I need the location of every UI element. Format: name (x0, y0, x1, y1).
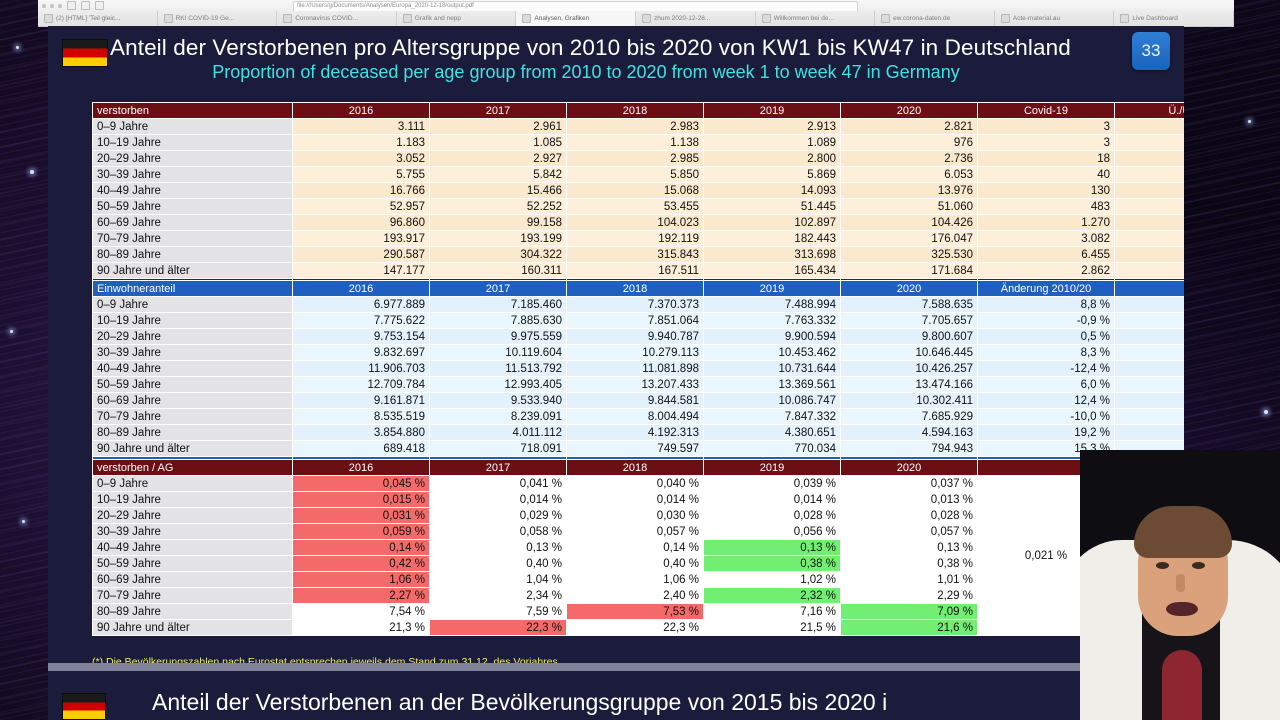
tab-label: ew.corona-daten.de (893, 15, 950, 22)
data-cell: 12.709.784 (293, 377, 430, 393)
browser-tab[interactable]: ew.corona-daten.de (875, 11, 995, 26)
favicon-icon (1001, 14, 1010, 23)
data-cell: 0,38 % (841, 556, 978, 572)
row-label: 60–69 Jahre (93, 215, 293, 231)
row-label: 70–79 Jahre (93, 231, 293, 247)
browser-tab[interactable]: Acte-material.au (995, 11, 1115, 26)
data-cell: 9.844.581 (567, 393, 704, 409)
table-row: 10–19 Jahre1.1831.0851.1381.0899763-132 (93, 135, 1185, 151)
tab-label: (2) [HTML] 'Teil gleic... (56, 15, 120, 22)
data-cell: 0,056 % (704, 524, 841, 540)
data-cell (1115, 393, 1185, 409)
data-cell: 2.961 (430, 119, 567, 135)
table-row: 60–69 Jahre9.161.8719.533.9409.844.58110… (93, 393, 1185, 409)
table-row: 80–89 Jahre290.587304.322315.843313.6983… (93, 247, 1185, 263)
data-cell: 2.800 (704, 151, 841, 167)
data-cell: -163 (1115, 183, 1185, 199)
data-cell: 0,045 % (293, 476, 430, 492)
data-cell: 6.977.889 (293, 297, 430, 313)
data-cell: 52.252 (430, 199, 567, 215)
data-cell: 10.119.604 (430, 345, 567, 361)
data-cell: 0,40 % (567, 556, 704, 572)
header-label: Einwohneranteil (93, 281, 293, 297)
table-row: 50–59 Jahre52.95752.25253.45551.44551.06… (93, 199, 1185, 215)
column-header-2016: 2016 (293, 281, 430, 297)
row-label: 30–39 Jahre (93, 167, 293, 183)
data-cell: 1,06 % (293, 572, 430, 588)
data-cell: 1,06 % (567, 572, 704, 588)
row-label: 10–19 Jahre (93, 313, 293, 329)
data-cell: 0,13 % (704, 540, 841, 556)
data-cell: 0,013 % (841, 492, 978, 508)
presenter-hair (1134, 506, 1232, 558)
data-cell: 7,54 % (293, 604, 430, 620)
row-label: 80–89 Jahre (93, 247, 293, 263)
data-cell: 1.270 (978, 215, 1115, 231)
data-cell (1115, 313, 1185, 329)
data-cell: 13.976 (841, 183, 978, 199)
browser-tab[interactable]: Grafik and nepp (397, 11, 517, 26)
data-cell: 0,015 % (293, 492, 430, 508)
row-label: 40–49 Jahre (93, 540, 293, 556)
data-cell: 0,059 % (293, 524, 430, 540)
browser-tab[interactable]: Willkommen bei de... (756, 11, 876, 26)
window-close-dot[interactable] (42, 4, 46, 8)
data-cell: 2,34 % (430, 588, 567, 604)
window-zoom-dot[interactable] (58, 4, 62, 8)
favicon-icon (403, 14, 412, 23)
table-row: 20–29 Jahre9.753.1549.975.5599.940.7879.… (93, 329, 1185, 345)
row-label: 40–49 Jahre (93, 361, 293, 377)
tab-label: Analysen, Grafiken (534, 15, 589, 22)
data-cell: 0,058 % (430, 524, 567, 540)
data-cell: 7.763.332 (704, 313, 841, 329)
row-label: 90 Jahre und älter (93, 620, 293, 636)
data-cell: 10.453.462 (704, 345, 841, 361)
data-cell: 18 (978, 151, 1115, 167)
data-cell: 0,5 % (978, 329, 1115, 345)
data-cell: 7,16 % (704, 604, 841, 620)
table-row: 70–79 Jahre8.535.5198.239.0918.004.4947.… (93, 409, 1185, 425)
data-cell: 165.434 (704, 263, 841, 279)
data-cell: 4.594.163 (841, 425, 978, 441)
data-cell: -3.455 (1115, 231, 1185, 247)
data-cell: -312 (1115, 119, 1185, 135)
star-particle (10, 330, 13, 333)
data-cell: 0,014 % (430, 492, 567, 508)
percentage-table-wrapper: verstorben / AG20162017201820192020R0–9 … (92, 459, 1132, 636)
population-table-wrapper: Einwohneranteil20162017201820192020Änder… (92, 280, 1132, 473)
data-cell (1115, 297, 1185, 313)
window-minimize-dot[interactable] (50, 4, 54, 8)
data-cell: 9.800.607 (841, 329, 978, 345)
table-row: 50–59 Jahre12.709.78412.993.40513.207.43… (93, 377, 1185, 393)
data-cell: 0,037 % (841, 476, 978, 492)
next-presentation-slide: Anteil der Verstorbenen an der Bevölkeru… (48, 671, 1184, 720)
data-cell (1115, 377, 1185, 393)
data-cell: 2.736 (841, 151, 978, 167)
column-header: 2019 (704, 460, 841, 476)
data-cell: 104.426 (841, 215, 978, 231)
data-cell: 0,039 % (704, 476, 841, 492)
data-cell: 14.093 (704, 183, 841, 199)
data-cell (1115, 345, 1185, 361)
data-cell: 7.370.373 (567, 297, 704, 313)
data-cell: 10.426.257 (841, 361, 978, 377)
favicon-icon (881, 14, 890, 23)
data-cell: 7.685.929 (841, 409, 978, 425)
data-cell: -10,0 % (978, 409, 1115, 425)
column-header: 2020 (841, 460, 978, 476)
row-label: 60–69 Jahre (93, 572, 293, 588)
data-cell: 6,0 % (978, 377, 1115, 393)
data-cell: 0,13 % (430, 540, 567, 556)
row-label: 10–19 Jahre (93, 492, 293, 508)
favicon-icon (762, 14, 771, 23)
data-cell (1115, 409, 1185, 425)
data-cell: 1,04 % (430, 572, 567, 588)
row-label: 50–59 Jahre (93, 377, 293, 393)
data-cell: 9.900.594 (704, 329, 841, 345)
column-header-2019: 2019 (704, 281, 841, 297)
row-label: 90 Jahre und älter (93, 441, 293, 457)
browser-tab[interactable]: RKI COVID-19 Ge... (158, 11, 278, 26)
star-particle (1248, 120, 1251, 123)
data-cell: 304.322 (430, 247, 567, 263)
data-cell: 53.455 (567, 199, 704, 215)
slide-number-badge: 33 (1132, 32, 1170, 70)
column-header-Änderung 2010/20: Änderung 2010/20 (978, 281, 1115, 297)
star-particle (30, 170, 34, 174)
data-cell: -3.081 (1115, 215, 1185, 231)
row-label: 80–89 Jahre (93, 604, 293, 620)
table-row: 30–39 Jahre5.7555.8425.8505.8696.05340-5… (93, 167, 1185, 183)
data-cell: 4.011.112 (430, 425, 567, 441)
data-cell: 10.279.113 (567, 345, 704, 361)
tab-label: Coronavirus COVID... (295, 15, 358, 22)
presenter-webcam (1080, 450, 1280, 720)
data-cell: 147.177 (293, 263, 430, 279)
data-cell: 0,38 % (704, 556, 841, 572)
data-cell: -132 (1115, 135, 1185, 151)
column-header: 2017 (430, 460, 567, 476)
data-cell: 8,8 % (978, 297, 1115, 313)
star-particle (16, 46, 19, 49)
data-cell: 0,028 % (841, 508, 978, 524)
presenter-tshirt (1162, 650, 1202, 720)
data-cell: 9.940.787 (567, 329, 704, 345)
row-label: 30–39 Jahre (93, 524, 293, 540)
data-cell: 102.897 (704, 215, 841, 231)
row-label: 20–29 Jahre (93, 329, 293, 345)
data-cell: 12,4 % (978, 393, 1115, 409)
table-row: 0–9 Jahre6.977.8897.185.4607.370.3737.48… (93, 297, 1185, 313)
column-header-2017: 2017 (430, 281, 567, 297)
data-cell: 10.302.411 (841, 393, 978, 409)
data-cell: 5.869 (704, 167, 841, 183)
data-cell: 6.455 (978, 247, 1115, 263)
column-header-2019: 2019 (704, 103, 841, 119)
data-cell: 11.513.792 (430, 361, 567, 377)
table-header-row: Einwohneranteil20162017201820192020Änder… (93, 281, 1185, 297)
data-cell: 19,2 % (978, 425, 1115, 441)
table-row: 10–19 Jahre7.775.6227.885.6307.851.0647.… (93, 313, 1185, 329)
data-cell: 10.731.644 (704, 361, 841, 377)
favicon-icon (164, 14, 173, 23)
data-cell: 193.917 (293, 231, 430, 247)
table-row: 80–89 Jahre3.854.8804.011.1124.192.3134.… (93, 425, 1185, 441)
data-cell: 192.119 (567, 231, 704, 247)
data-cell: 2.821 (841, 119, 978, 135)
back-icon[interactable] (67, 1, 76, 10)
row-label: 50–59 Jahre (93, 556, 293, 572)
table-row: 40–49 Jahre11.906.70311.513.79211.081.89… (93, 361, 1185, 377)
data-cell: 0,041 % (430, 476, 567, 492)
data-cell: 2.927 (430, 151, 567, 167)
data-cell: 13.474.166 (841, 377, 978, 393)
browser-tab[interactable]: (2) [HTML] 'Teil gleic... (38, 11, 158, 26)
data-cell: 11.906.703 (293, 361, 430, 377)
data-cell: 104.023 (567, 215, 704, 231)
column-header: 2016 (293, 460, 430, 476)
row-label: 50–59 Jahre (93, 199, 293, 215)
star-particle (1264, 410, 1268, 414)
presenter-eye-left (1156, 562, 1169, 569)
data-cell: 9.832.697 (293, 345, 430, 361)
data-cell: 2,32 % (704, 588, 841, 604)
data-cell: 2.983 (567, 119, 704, 135)
data-cell: 0,42 % (293, 556, 430, 572)
data-cell: 1,02 % (704, 572, 841, 588)
browser-tab[interactable]: Live Dashboard (1114, 11, 1234, 26)
table-row: 90 Jahre und älter689.418718.091749.5977… (93, 441, 1185, 457)
data-cell: 770.034 (704, 441, 841, 457)
data-cell: 0,40 % (430, 556, 567, 572)
data-cell: 6.053 (841, 167, 978, 183)
slide-separator (48, 663, 1184, 671)
favicon-icon (44, 14, 53, 23)
column-header-2017: 2017 (430, 103, 567, 119)
data-cell: 7.851.064 (567, 313, 704, 329)
table-row: 0–9 Jahre0,045 %0,041 %0,040 %0,039 %0,0… (93, 476, 1185, 492)
header-label: verstorben / AG (93, 460, 293, 476)
next-slide-title: Anteil der Verstorbenen an der Bevölkeru… (152, 689, 887, 716)
data-cell: 171.684 (841, 263, 978, 279)
data-cell: 749.597 (567, 441, 704, 457)
tab-label: Willkommen bei de... (774, 15, 834, 22)
browser-chrome: file:///Users/g/Documents/Analysen/Europ… (38, 0, 1234, 27)
data-cell: 15.466 (430, 183, 567, 199)
browser-tab-active[interactable]: Analysen, Grafiken (516, 11, 636, 26)
table-header-row: verstorben20162017201820192020Covid-19Ü.… (93, 103, 1185, 119)
data-cell: 22,3 % (430, 620, 567, 636)
data-cell: 130 (978, 183, 1115, 199)
data-cell: 8.004.494 (567, 409, 704, 425)
data-cell: 2,40 % (567, 588, 704, 604)
favicon-icon (522, 14, 531, 23)
data-cell: 2.862 (978, 263, 1115, 279)
tab-strip: (2) [HTML] 'Teil gleic... RKI COVID-19 G… (38, 11, 1234, 26)
slide-title-english: Proportion of deceased per age group fro… (48, 62, 1184, 83)
tab-label: Acte-material.au (1013, 15, 1060, 22)
row-label: 0–9 Jahre (93, 476, 293, 492)
tab-label: zhum 2020-12-28... (654, 15, 710, 22)
data-cell: 15.068 (567, 183, 704, 199)
data-cell: 4.380.651 (704, 425, 841, 441)
row-label: 0–9 Jahre (93, 297, 293, 313)
data-cell: 0,028 % (704, 508, 841, 524)
data-cell: 182.443 (704, 231, 841, 247)
data-cell: 7.705.657 (841, 313, 978, 329)
column-header-2020: 2020 (841, 281, 978, 297)
header-label: verstorben (93, 103, 293, 119)
deaths-table: verstorben20162017201820192020Covid-19Ü.… (92, 102, 1184, 295)
presentation-slide: Anteil der Verstorbenen pro Altersgruppe… (48, 26, 1184, 671)
data-cell: -178 (1115, 151, 1185, 167)
data-cell: 7,09 % (841, 604, 978, 620)
presenter-nose (1176, 574, 1185, 592)
data-cell (1115, 329, 1185, 345)
data-cell (1115, 361, 1185, 377)
column-header-2016: 2016 (293, 103, 430, 119)
data-cell: 11.081.898 (567, 361, 704, 377)
row-label: 40–49 Jahre (93, 183, 293, 199)
data-cell: 7,59 % (430, 604, 567, 620)
row-label: 20–29 Jahre (93, 508, 293, 524)
data-cell: 7.588.635 (841, 297, 978, 313)
data-cell: 21,3 % (293, 620, 430, 636)
data-cell: 51.445 (704, 199, 841, 215)
data-cell: 5.850 (567, 167, 704, 183)
data-cell: 1.085 (430, 135, 567, 151)
tab-label: Live Dashboard (1132, 15, 1178, 22)
tab-label: RKI COVID-19 Ge... (176, 15, 235, 22)
data-cell: -3.117 (1115, 199, 1185, 215)
data-cell: 8,3 % (978, 345, 1115, 361)
data-cell: 96.860 (293, 215, 430, 231)
favicon-icon (1120, 14, 1129, 23)
table-row: 20–29 Jahre3.0522.9272.9852.8002.73618-1… (93, 151, 1185, 167)
data-cell: 0,029 % (430, 508, 567, 524)
data-cell: 10.646.445 (841, 345, 978, 361)
data-cell: 689.418 (293, 441, 430, 457)
column-header-2018: 2018 (567, 103, 704, 119)
data-cell: 1.183 (293, 135, 430, 151)
data-cell: 7,53 % (567, 604, 704, 620)
browser-toolbar: file:///Users/g/Documents/Analysen/Europ… (38, 0, 1234, 11)
column-header-Covid-19: Covid-19 (978, 103, 1115, 119)
row-label: 70–79 Jahre (93, 588, 293, 604)
data-cell: 313.698 (704, 247, 841, 263)
column-header-2018: 2018 (567, 281, 704, 297)
favicon-icon (283, 14, 292, 23)
data-cell: 1.089 (704, 135, 841, 151)
row-label: 10–19 Jahre (93, 135, 293, 151)
data-cell: 0,014 % (704, 492, 841, 508)
presenter-eye-right (1192, 562, 1205, 569)
data-cell: 5.755 (293, 167, 430, 183)
data-cell: 10.086.747 (704, 393, 841, 409)
data-cell: 9.161.871 (293, 393, 430, 409)
star-particle (22, 520, 25, 523)
data-cell: 7.185.460 (430, 297, 567, 313)
data-cell: 315.843 (567, 247, 704, 263)
data-cell: 794.943 (841, 441, 978, 457)
population-table: Einwohneranteil20162017201820192020Änder… (92, 280, 1184, 473)
browser-tab[interactable]: Coronavirus COVID... (277, 11, 397, 26)
forward-icon[interactable] (81, 1, 90, 10)
deaths-table-wrapper: verstorben20162017201820192020Covid-19Ü.… (92, 102, 1132, 295)
data-cell: -2.217 (1115, 263, 1185, 279)
column-header- (1115, 281, 1185, 297)
row-label: 0–9 Jahre (93, 119, 293, 135)
data-cell: 2.985 (567, 151, 704, 167)
data-cell: 9.753.154 (293, 329, 430, 345)
data-cell: 0,040 % (567, 476, 704, 492)
data-cell: 167.511 (567, 263, 704, 279)
browser-tab[interactable]: zhum 2020-12-28... (636, 11, 756, 26)
data-cell: 9.533.940 (430, 393, 567, 409)
row-label: 60–69 Jahre (93, 393, 293, 409)
data-cell: 2,27 % (293, 588, 430, 604)
table-header-row: verstorben / AG20162017201820192020R (93, 460, 1185, 476)
row-label: 80–89 Jahre (93, 425, 293, 441)
data-cell: 8.535.519 (293, 409, 430, 425)
data-cell: 21,6 % (841, 620, 978, 636)
data-cell: 0,030 % (567, 508, 704, 524)
data-cell: 7.775.622 (293, 313, 430, 329)
row-label: 20–29 Jahre (93, 151, 293, 167)
data-cell: 0,057 % (567, 524, 704, 540)
data-cell: 483 (978, 199, 1115, 215)
presenter-mouth (1166, 602, 1198, 616)
sidebar-icon[interactable] (95, 1, 104, 10)
data-cell: 0,14 % (293, 540, 430, 556)
data-cell: 160.311 (430, 263, 567, 279)
slide-header: Anteil der Verstorbenen pro Altersgruppe… (48, 26, 1184, 98)
data-cell: 0,031 % (293, 508, 430, 524)
data-cell: 3.082 (978, 231, 1115, 247)
row-label: 70–79 Jahre (93, 409, 293, 425)
column-header-Ü./U.*: Ü./U.* (1115, 103, 1185, 119)
table-row: 30–39 Jahre9.832.69710.119.60410.279.113… (93, 345, 1185, 361)
data-cell: 13.207.433 (567, 377, 704, 393)
data-cell: 3.111 (293, 119, 430, 135)
data-cell: 22,3 % (567, 620, 704, 636)
data-cell: 99.158 (430, 215, 567, 231)
data-cell: 40 (978, 167, 1115, 183)
data-cell: 3 (978, 135, 1115, 151)
row-label: 90 Jahre und älter (93, 263, 293, 279)
data-cell: 4.192.313 (567, 425, 704, 441)
data-cell: 9.975.559 (430, 329, 567, 345)
data-cell: 12.993.405 (430, 377, 567, 393)
german-flag-icon (62, 693, 106, 720)
data-cell: 976 (841, 135, 978, 151)
data-cell: 0,13 % (841, 540, 978, 556)
slide-title-german: Anteil der Verstorbenen pro Altersgruppe… (110, 35, 1114, 61)
table-row: 0–9 Jahre3.1112.9612.9832.9132.8213-312 (93, 119, 1185, 135)
tab-label: Grafik and nepp (415, 15, 461, 22)
data-cell: 2.913 (704, 119, 841, 135)
row-label: 30–39 Jahre (93, 345, 293, 361)
favicon-icon (642, 14, 651, 23)
data-cell: 7.885.630 (430, 313, 567, 329)
data-cell: 51.060 (841, 199, 978, 215)
percentage-table: verstorben / AG20162017201820192020R0–9 … (92, 459, 1184, 636)
data-cell: 3 (978, 119, 1115, 135)
data-cell: 0,14 % (567, 540, 704, 556)
